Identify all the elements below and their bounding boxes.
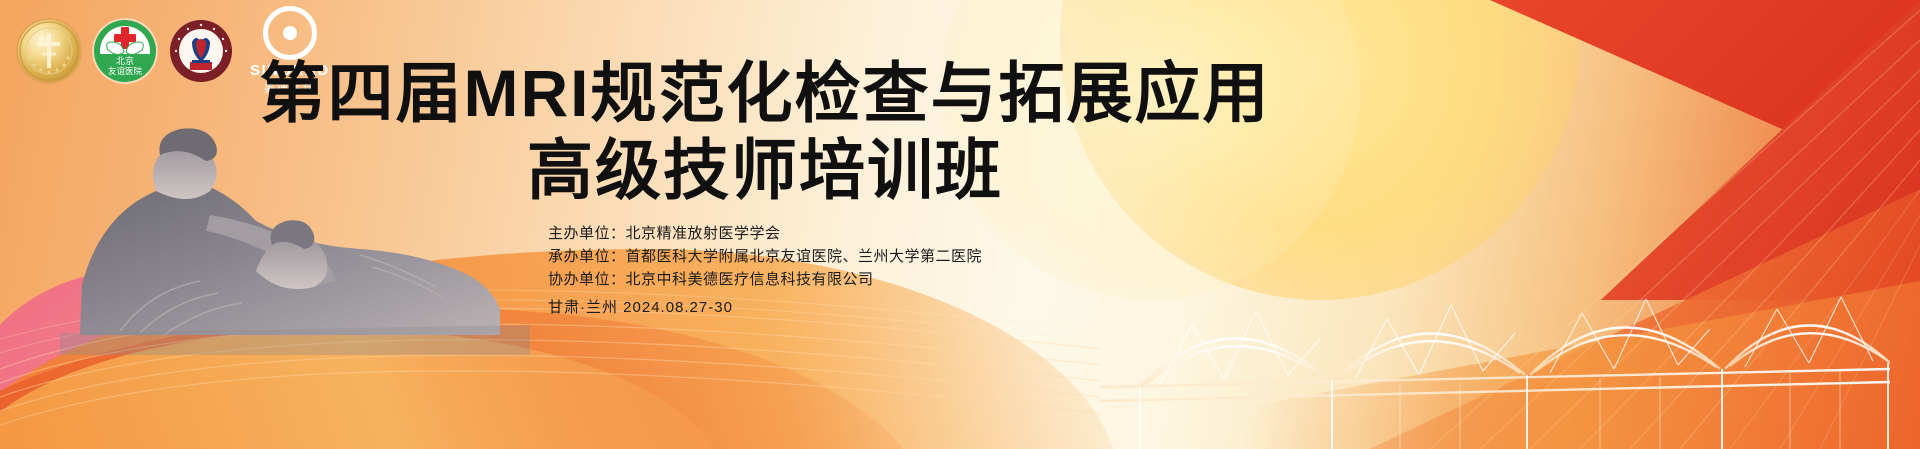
title-line-2: 高级技师培训班: [0, 135, 1530, 206]
event-banner: 北京 友谊医院 SINORAD: [0, 0, 1920, 449]
organizer-line: 承办单位：首都医科大学附属北京友谊医院、兰州大学第二医院: [548, 245, 982, 268]
date-location-line: 甘肃·兰州 2024.08.27-30: [548, 296, 982, 319]
title-block: 第四届MRI规范化检查与拓展应用 高级技师培训班: [0, 58, 1530, 207]
info-block: 主办单位：北京精准放射医学学会 承办单位：首都医科大学附属北京友谊医院、兰州大学…: [548, 222, 982, 319]
sinorad-ring-icon: [263, 6, 317, 60]
zhongshan-bridge-decor: [1100, 219, 1890, 449]
host-line: 主办单位：北京精准放射医学学会: [548, 222, 982, 245]
coorganizer-line: 协办单位：北京中科美德医疗信息科技有限公司: [548, 268, 982, 291]
title-line-1: 第四届MRI规范化检查与拓展应用: [0, 58, 1530, 129]
